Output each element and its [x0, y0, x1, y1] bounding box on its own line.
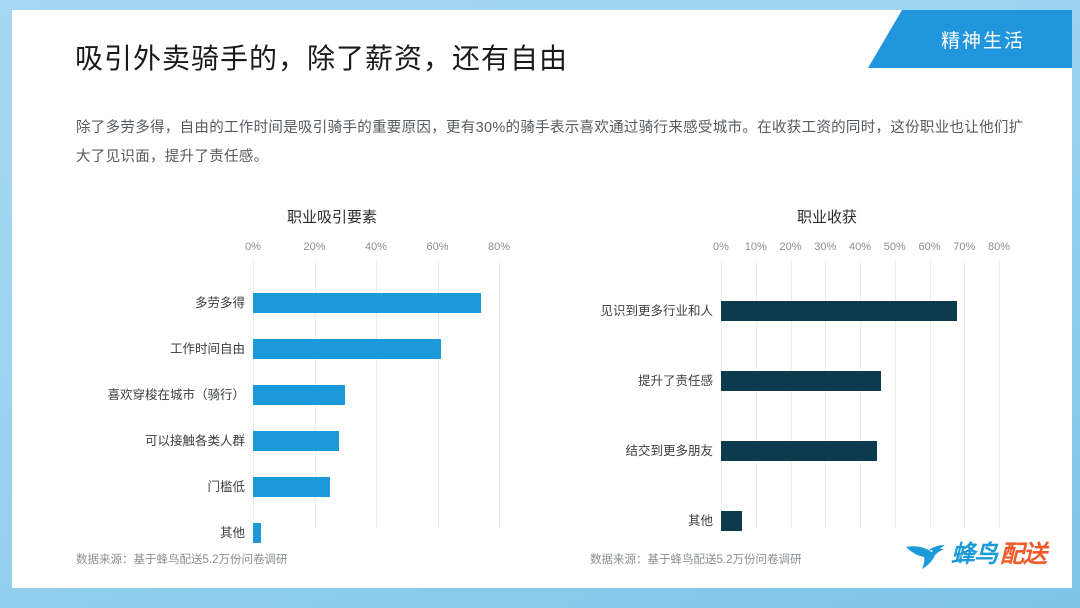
x-axis-tick-label: 10% [745, 241, 767, 253]
chart-job-gains: 职业收获 0%10%20%30%40%50%60%70%80% 见识到更多行业和… [557, 206, 1037, 576]
bar-category-label: 见识到更多行业和人 [559, 301, 713, 321]
bar-category-label: 门槛低 [69, 477, 245, 497]
bar-row: 结交到更多朋友 [557, 441, 1037, 461]
chart-title-right: 职业收获 [557, 206, 1037, 227]
bar [253, 339, 441, 359]
bar-row: 工作时间自由 [67, 339, 537, 359]
intro-paragraph: 除了多劳多得，自由的工作时间是吸引骑手的重要原因，更有30%的骑手表示喜欢通过骑… [76, 114, 1026, 172]
page-title: 吸引外卖骑手的，除了薪资，还有自由 [75, 37, 568, 77]
x-axis-tick-label: 70% [953, 241, 975, 253]
x-axis-tick-label: 80% [988, 241, 1010, 253]
x-axis-tick-label: 20% [779, 241, 801, 253]
logo-text-secondary: 配送 [1000, 543, 1046, 567]
logo-text-primary: 蜂鸟 [951, 543, 997, 567]
bar-category-label: 可以接触各类人群 [69, 431, 245, 451]
plot-area-right: 0%10%20%30%40%50%60%70%80% 见识到更多行业和人提升了责… [557, 241, 1037, 529]
bar [721, 511, 742, 531]
header-banner: 精神生活 [868, 10, 1072, 68]
x-axis-tick-label: 20% [303, 241, 325, 253]
bar-row: 门槛低 [67, 477, 537, 497]
bar-category-label: 工作时间自由 [69, 339, 245, 359]
chart-job-attraction: 职业吸引要素 0%20%40%60%80% 多劳多得工作时间自由喜欢穿梭在城市（… [67, 206, 537, 576]
chart-title-left: 职业吸引要素 [67, 206, 537, 227]
source-note-left: 数据来源：基于蜂鸟配送5.2万份问卷调研 [76, 551, 288, 567]
bar-series-left: 多劳多得工作时间自由喜欢穿梭在城市（骑行）可以接触各类人群门槛低其他 [67, 261, 537, 529]
x-axis-tick-label: 0% [713, 241, 729, 253]
bar [253, 385, 345, 405]
x-axis-tick-label: 40% [849, 241, 871, 253]
bar-row: 见识到更多行业和人 [557, 301, 1037, 321]
bar-row: 喜欢穿梭在城市（骑行） [67, 385, 537, 405]
bar-category-label: 其他 [559, 511, 713, 531]
bar-category-label: 其他 [69, 523, 245, 543]
header-banner-label: 精神生活 [915, 26, 1025, 53]
x-axis-ticks-left: 0%20%40%60%80% [67, 241, 537, 259]
bar-category-label: 结交到更多朋友 [559, 441, 713, 461]
bar [721, 441, 877, 461]
bar-category-label: 喜欢穿梭在城市（骑行） [69, 385, 245, 405]
bar-category-label: 多劳多得 [69, 293, 245, 313]
x-axis-tick-label: 30% [814, 241, 836, 253]
bar-row: 多劳多得 [67, 293, 537, 313]
bar [253, 477, 330, 497]
x-axis-tick-label: 0% [245, 241, 261, 253]
bar [721, 301, 957, 321]
bar-row: 其他 [557, 511, 1037, 531]
x-axis-tick-label: 60% [426, 241, 448, 253]
source-note-right: 数据来源：基于蜂鸟配送5.2万份问卷调研 [590, 551, 802, 567]
plot-area-left: 0%20%40%60%80% 多劳多得工作时间自由喜欢穿梭在城市（骑行）可以接触… [67, 241, 537, 529]
slide-background: 精神生活 吸引外卖骑手的，除了薪资，还有自由 除了多劳多得，自由的工作时间是吸引… [0, 0, 1080, 608]
slide-card: 精神生活 吸引外卖骑手的，除了薪资，还有自由 除了多劳多得，自由的工作时间是吸引… [12, 10, 1072, 588]
bar-row: 提升了责任感 [557, 371, 1037, 391]
x-axis-tick-label: 40% [365, 241, 387, 253]
brand-logo: 蜂鸟 配送 [904, 538, 1046, 572]
bar [721, 371, 881, 391]
bar-category-label: 提升了责任感 [559, 371, 713, 391]
bar [253, 293, 481, 313]
x-axis-tick-label: 60% [918, 241, 940, 253]
x-axis-tick-label: 80% [488, 241, 510, 253]
hummingbird-icon [904, 538, 948, 572]
bar [253, 431, 339, 451]
bar-series-right: 见识到更多行业和人提升了责任感结交到更多朋友其他 [557, 261, 1037, 529]
x-axis-tick-label: 50% [884, 241, 906, 253]
bar-row: 其他 [67, 523, 537, 543]
bar [253, 523, 261, 543]
x-axis-ticks-right: 0%10%20%30%40%50%60%70%80% [557, 241, 1037, 259]
bar-row: 可以接触各类人群 [67, 431, 537, 451]
